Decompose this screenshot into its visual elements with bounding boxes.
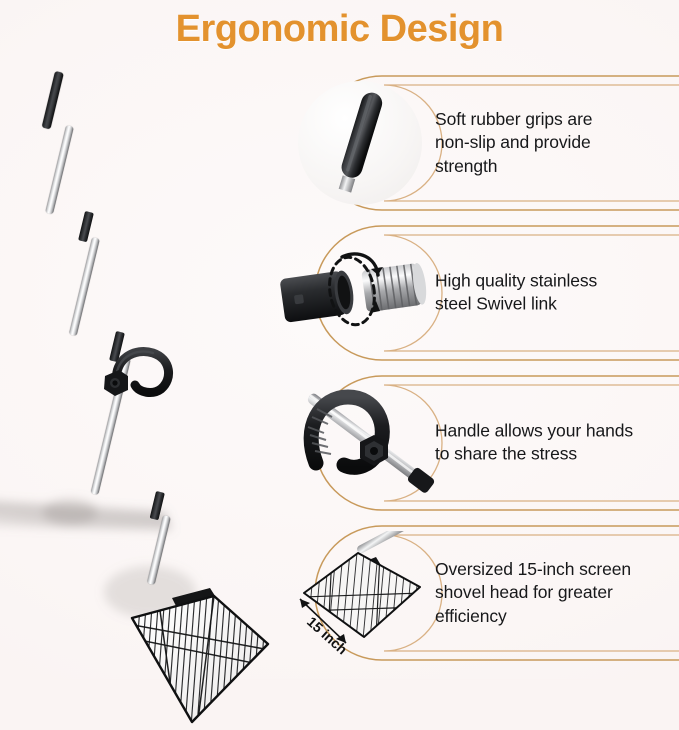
callout-swivel-link[interactable]: High quality stainless steel Swivel link <box>272 218 679 368</box>
callout-text: Soft rubber grips are non-slip and provi… <box>435 108 670 178</box>
callout-line-3: strength <box>435 155 670 178</box>
callout-line-3: efficiency <box>435 605 670 628</box>
d-handle-icon <box>298 381 448 505</box>
d-handle <box>95 343 190 403</box>
callout-line-1: Soft rubber grips are <box>435 108 670 131</box>
mesh-shovel-head-icon: 15 inch <box>298 531 448 655</box>
callout-line-1: Handle allows your hands <box>435 420 670 443</box>
callout-line-2: steel Swivel link <box>435 293 670 316</box>
page-title: Ergonomic Design <box>0 8 679 51</box>
callout-share-stress-handle[interactable]: Handle allows your hands to share the st… <box>272 368 679 518</box>
callout-oversized-screen-head[interactable]: 15 inch Oversized 15-inch screen shovel … <box>272 518 679 668</box>
callout-line-1: Oversized 15-inch screen <box>435 558 670 581</box>
infographic-canvas: Ergonomic Design <box>0 0 679 679</box>
product-photo <box>0 60 290 679</box>
callout-text: High quality stainless steel Swivel link <box>435 270 670 317</box>
swivel-link-icon <box>298 231 448 355</box>
callout-line-2: shovel head for greater <box>435 581 670 604</box>
callout-line-2: non-slip and provide <box>435 131 670 154</box>
callout-line-1: High quality stainless <box>435 270 670 293</box>
callout-soft-rubber-grips[interactable]: Soft rubber grips are non-slip and provi… <box>272 68 679 218</box>
rubber-grip-icon <box>298 81 422 205</box>
callout-text: Oversized 15-inch screen shovel head for… <box>435 558 670 628</box>
callout-text: Handle allows your hands to share the st… <box>435 420 670 467</box>
callout-line-2: to share the stress <box>435 443 670 466</box>
mesh-shovel-head <box>118 580 278 730</box>
